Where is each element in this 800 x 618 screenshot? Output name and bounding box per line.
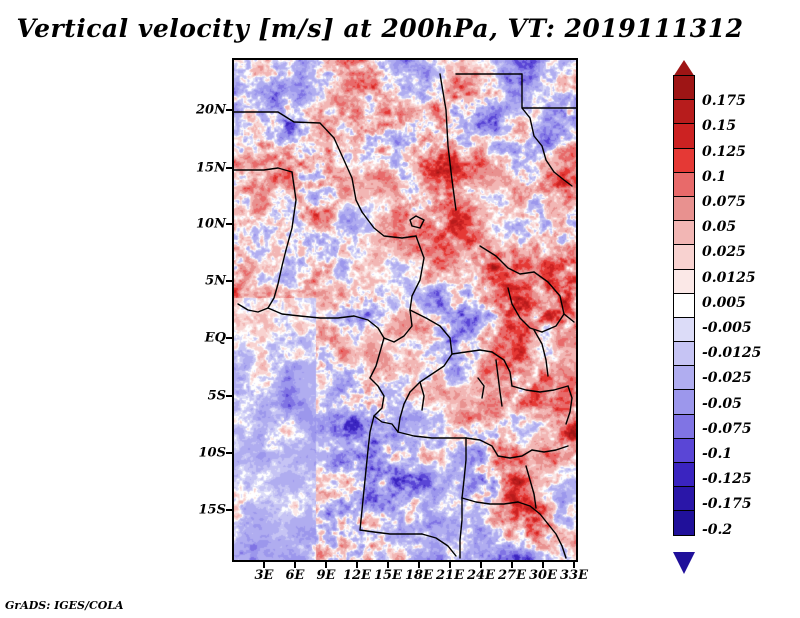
colorbar-arrow-bottom <box>673 552 695 574</box>
colorbar-label-8: 0.005 <box>702 295 746 311</box>
colorbar-band-6 <box>673 220 695 245</box>
colorbar-label-2: 0.125 <box>702 144 746 160</box>
xtick-mark-27E <box>511 562 513 568</box>
ytick-mark-5S <box>226 395 232 397</box>
xtick-mark-33E <box>573 562 575 568</box>
colorbar-band-5 <box>673 196 695 221</box>
colorbar-band-8 <box>673 269 695 294</box>
xtick-label-21E: 21E <box>436 568 464 583</box>
xtick-label-3E: 3E <box>255 568 274 583</box>
ytick-mark-10N <box>226 223 232 225</box>
colorbar-label-17: -0.2 <box>702 522 732 538</box>
colorbar-label-15: -0.125 <box>702 471 752 487</box>
xtick-mark-30E <box>542 562 544 568</box>
ytick-label-15N: 15N <box>196 161 226 176</box>
colorbar-band-11 <box>673 341 695 366</box>
colorbar-label-3: 0.1 <box>702 169 726 185</box>
colorbar-band-13 <box>673 389 695 414</box>
colorbar-label-10: -0.0125 <box>702 345 761 361</box>
xtick-mark-6E <box>294 562 296 568</box>
colorbar-label-12: -0.05 <box>702 396 742 412</box>
ytick-label-10S: 10S <box>196 446 226 461</box>
ytick-mark-EQ <box>226 337 232 339</box>
colorbar-band-1 <box>673 99 695 124</box>
colorbar-label-13: -0.075 <box>702 421 752 437</box>
ytick-label-EQ: EQ <box>196 331 226 346</box>
xtick-label-6E: 6E <box>286 568 305 583</box>
xtick-mark-3E <box>263 562 265 568</box>
colorbar-label-1: 0.15 <box>702 118 736 134</box>
colorbar-band-18 <box>673 510 695 535</box>
colorbar-band-17 <box>673 486 695 511</box>
ytick-mark-10S <box>226 452 232 454</box>
colorbar-band-16 <box>673 462 695 487</box>
colorbar-label-6: 0.025 <box>702 244 746 260</box>
colorbar-band-7 <box>673 244 695 269</box>
colorbar-band-3 <box>673 148 695 173</box>
ytick-mark-5N <box>226 280 232 282</box>
xtick-label-27E: 27E <box>498 568 526 583</box>
colorbar-label-7: 0.0125 <box>702 270 756 286</box>
colorbar-band-2 <box>673 123 695 148</box>
colorbar[interactable] <box>673 76 695 536</box>
xtick-label-18E: 18E <box>405 568 433 583</box>
xtick-mark-24E <box>480 562 482 568</box>
country-borders-overlay <box>234 60 576 560</box>
ytick-mark-20N <box>226 109 232 111</box>
xtick-label-24E: 24E <box>467 568 495 583</box>
xtick-mark-9E <box>325 562 327 568</box>
ytick-label-20N: 20N <box>196 103 226 118</box>
grads-credit: GrADS: IGES/COLA <box>5 599 124 612</box>
colorbar-band-10 <box>673 317 695 342</box>
xtick-mark-18E <box>418 562 420 568</box>
xtick-mark-12E <box>356 562 358 568</box>
colorbar-label-0: 0.175 <box>702 93 746 109</box>
xtick-mark-15E <box>387 562 389 568</box>
colorbar-label-11: -0.025 <box>702 370 752 386</box>
colorbar-label-9: -0.005 <box>702 320 752 336</box>
xtick-mark-21E <box>449 562 451 568</box>
ytick-label-5N: 5N <box>196 274 226 289</box>
ytick-mark-15S <box>226 509 232 511</box>
ytick-mark-15N <box>226 167 232 169</box>
colorbar-label-5: 0.05 <box>702 219 736 235</box>
colorbar-band-12 <box>673 365 695 390</box>
colorbar-band-9 <box>673 293 695 318</box>
ytick-label-15S: 15S <box>196 503 226 518</box>
ytick-label-10N: 10N <box>196 217 226 232</box>
colorbar-band-14 <box>673 414 695 439</box>
colorbar-band-0 <box>673 75 695 100</box>
page-title: Vertical velocity [m/s] at 200hPa, VT: 2… <box>0 14 760 43</box>
xtick-label-30E: 30E <box>529 568 557 583</box>
xtick-label-12E: 12E <box>343 568 371 583</box>
xtick-label-33E: 33E <box>560 568 588 583</box>
xtick-label-9E: 9E <box>317 568 336 583</box>
colorbar-label-14: -0.1 <box>702 446 732 462</box>
colorbar-label-4: 0.075 <box>702 194 746 210</box>
map-plot-area[interactable] <box>232 58 578 562</box>
colorbar-label-16: -0.175 <box>702 496 752 512</box>
xtick-label-15E: 15E <box>374 568 402 583</box>
colorbar-band-15 <box>673 438 695 463</box>
ytick-label-5S: 5S <box>196 389 226 404</box>
colorbar-band-4 <box>673 172 695 197</box>
